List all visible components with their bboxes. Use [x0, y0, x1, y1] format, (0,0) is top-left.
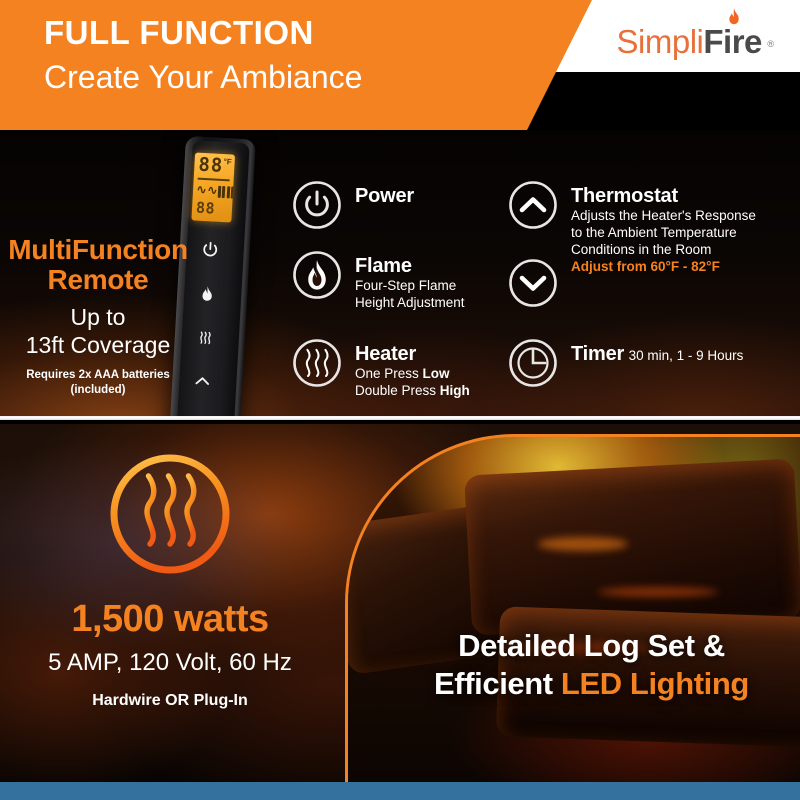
- logo-fire-wrap: Fire ®: [703, 25, 774, 58]
- watts-block: 1,500 watts 5 AMP, 120 Volt, 60 Hz Hardw…: [0, 452, 340, 710]
- remote-note-line1: Requires 2x AAA batteries: [0, 368, 196, 383]
- log-panel-caption: Detailed Log Set & Efficient LED Lightin…: [348, 627, 800, 703]
- feature-heater-title: Heater: [355, 343, 416, 365]
- remote-coverage: Up to 13ft Coverage: [0, 304, 196, 358]
- specs-section: 1,500 watts 5 AMP, 120 Volt, 60 Hz Hardw…: [0, 424, 800, 782]
- lcd-lower-digits: 88: [196, 201, 216, 217]
- feature-flame-desc-line2: Height Adjustment: [355, 294, 465, 311]
- flame-icon: [292, 250, 342, 300]
- heat-waves-circle-icon: [108, 563, 232, 580]
- feature-heater: Heater One Press Low Double Press High: [292, 338, 470, 399]
- logo-text-fire: Fire: [703, 23, 762, 60]
- ember-glow: [598, 587, 718, 597]
- lcd-icon-row: ∿∿: [196, 184, 231, 199]
- watts-note: Hardwire OR Plug-In: [0, 691, 340, 710]
- feature-flame: Flame Four-Step Flame Height Adjustment: [292, 250, 465, 311]
- clock-icon: [508, 338, 558, 388]
- feature-timer: Timer 30 min, 1 - 9 Hours: [508, 338, 743, 388]
- section-divider: [0, 416, 800, 420]
- feature-timer-desc: 30 min, 1 - 9 Hours: [629, 348, 744, 363]
- feature-heater-body: Heater One Press Low Double Press High: [355, 338, 470, 399]
- ember-glow: [538, 537, 628, 551]
- power-icon: [292, 180, 342, 230]
- feature-timer-body: Timer 30 min, 1 - 9 Hours: [571, 338, 743, 365]
- feature-thermostat-desc-line2: to the Ambient Temperature: [571, 224, 756, 241]
- feature-timer-title: Timer: [571, 343, 624, 365]
- feature-flame-desc: Four-Step Flame Height Adjustment: [355, 277, 465, 311]
- feature-power-title: Power: [355, 185, 414, 207]
- feature-thermostat-body: Thermostat Adjusts the Heater's Response…: [571, 180, 756, 276]
- remote-heading: MultiFunction Remote: [0, 235, 196, 295]
- watts-value: 1,500 watts: [0, 599, 340, 641]
- simplifire-logo: Simpli Fire ®: [617, 18, 774, 58]
- flame-bars-icon: [217, 185, 234, 198]
- feature-flame-desc-line1: Four-Step Flame: [355, 277, 465, 294]
- feature-heater-desc-line2: Double Press High: [355, 382, 470, 399]
- remote-lcd-display: 88 °F ∿∿ 88: [191, 152, 235, 222]
- remote-power-button[interactable]: [197, 237, 222, 262]
- feature-thermostat-desc-line1: Adjusts the Heater's Response: [571, 207, 756, 224]
- remote-copy-block: MultiFunction Remote Up to 13ft Coverage…: [0, 235, 196, 398]
- lcd-digits: 88: [198, 156, 224, 176]
- feature-thermostat-range: Adjust from 60°F - 82°F: [571, 259, 720, 274]
- lcd-degree-label: °F: [223, 158, 232, 166]
- page-title: FULL FUNCTION: [44, 14, 544, 52]
- chevron-up-circle-icon: [508, 180, 558, 230]
- feature-heater-desc-line1: One Press Low: [355, 365, 470, 382]
- feature-power: Power: [292, 180, 414, 230]
- watts-spec: 5 AMP, 120 Volt, 60 Hz: [0, 649, 340, 678]
- feature-thermostat-title: Thermostat: [571, 185, 678, 207]
- log-caption-line1: Detailed Log Set &: [366, 627, 800, 665]
- remote-note-line2: (included): [0, 383, 196, 398]
- registered-mark-icon: ®: [767, 39, 774, 49]
- thermostat-icon-group: [508, 180, 558, 310]
- feature-power-body: Power: [355, 180, 414, 207]
- log-set-panel: Detailed Log Set & Efficient LED Lightin…: [345, 434, 800, 782]
- feature-thermostat-desc-line3: Conditions in the Room: [571, 241, 756, 258]
- log-caption-plain: Efficient: [434, 666, 561, 701]
- footer-bar: [0, 782, 800, 800]
- feature-flame-title: Flame: [355, 255, 412, 277]
- feature-thermostat: Thermostat Adjusts the Heater's Response…: [508, 180, 756, 310]
- chevron-down-circle-icon: [508, 258, 558, 308]
- heat-waves-icon: [292, 338, 342, 388]
- logo-text-simpli: Simpli: [617, 25, 704, 58]
- log-caption-line2: Efficient LED Lighting: [366, 665, 800, 703]
- infographic-page: FULL FUNCTION Create Your Ambiance Simpl…: [0, 0, 800, 800]
- remote-battery-note: Requires 2x AAA batteries (included): [0, 368, 196, 398]
- flame-icon: [727, 8, 741, 28]
- header-text-block: FULL FUNCTION Create Your Ambiance: [44, 14, 544, 99]
- features-section: 88 °F ∿∿ 88: [0, 130, 800, 420]
- remote-flame-button[interactable]: [195, 281, 220, 306]
- feature-heater-desc: One Press Low Double Press High: [355, 365, 470, 399]
- heat-waves-icon: ∿∿: [196, 184, 218, 198]
- page-subtitle: Create Your Ambiance: [44, 57, 544, 99]
- feature-thermostat-desc: Adjusts the Heater's Response to the Amb…: [571, 207, 756, 258]
- lcd-separator: [198, 178, 230, 182]
- remote-heading-line2: Remote: [0, 265, 196, 295]
- log-caption-accent: LED Lighting: [561, 666, 749, 701]
- remote-coverage-line1: Up to: [0, 304, 196, 331]
- feature-flame-body: Flame Four-Step Flame Height Adjustment: [355, 250, 465, 311]
- header-banner: FULL FUNCTION Create Your Ambiance Simpl…: [0, 0, 800, 130]
- remote-coverage-line2: 13ft Coverage: [0, 332, 196, 359]
- remote-heading-line1: MultiFunction: [0, 235, 196, 265]
